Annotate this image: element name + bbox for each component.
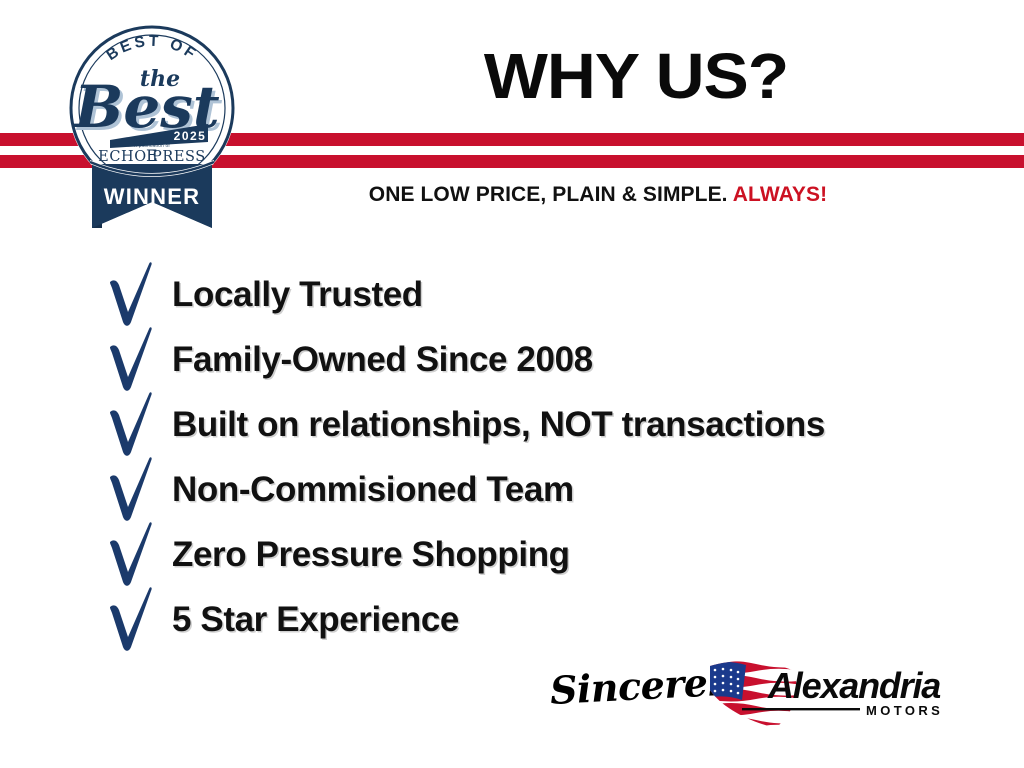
subtitle-main-text: ONE LOW PRICE, PLAIN & SIMPLE. xyxy=(369,183,728,206)
checkmark-icon xyxy=(104,396,160,454)
logo-rule xyxy=(742,708,860,710)
brand-wordmark: Alexandria xyxy=(767,665,940,706)
list-item: Zero Pressure Shopping xyxy=(104,522,1004,587)
svg-text:WINNER: WINNER xyxy=(104,184,200,209)
checkmark-icon xyxy=(104,461,160,519)
alexandria-motors-logo: Alexandria MOTORS xyxy=(706,658,956,736)
svg-text:ECHO PRESS: ECHO PRESS xyxy=(98,149,206,165)
list-item: 5 Star Experience xyxy=(104,587,1004,652)
best-of-the-best-badge: WINNER BEST OF the Best Best 2025 A publ… xyxy=(62,14,242,236)
list-item: Family-Owned Since 2008 xyxy=(104,327,1004,392)
benefit-label: Family-Owned Since 2008 xyxy=(172,342,593,377)
checkmark-icon xyxy=(104,331,160,389)
subtitle-tagline: ONE LOW PRICE, PLAIN & SIMPLE. ALWAYS! xyxy=(248,183,948,207)
brand-subtext: MOTORS xyxy=(866,703,943,718)
list-item: Non-Commisioned Team xyxy=(104,457,1004,522)
subtitle-accent-text: ALWAYS! xyxy=(733,183,827,206)
benefits-list: Locally Trusted Family-Owned Since 2008 … xyxy=(104,262,1004,652)
list-item: Built on relationships, NOT transactions xyxy=(104,392,1004,457)
svg-text:2025: 2025 xyxy=(174,129,207,143)
benefit-label: 5 Star Experience xyxy=(172,602,459,637)
checkmark-icon xyxy=(104,266,160,324)
list-item: Locally Trusted xyxy=(104,262,1004,327)
page-title: WHY US? xyxy=(225,44,1024,108)
benefit-label: Non-Commisioned Team xyxy=(172,472,574,507)
benefit-label: Zero Pressure Shopping xyxy=(172,537,570,572)
benefit-label: Locally Trusted xyxy=(172,277,423,312)
benefit-label: Built on relationships, NOT transactions xyxy=(172,407,825,442)
checkmark-icon xyxy=(104,591,160,649)
checkmark-icon xyxy=(104,526,160,584)
